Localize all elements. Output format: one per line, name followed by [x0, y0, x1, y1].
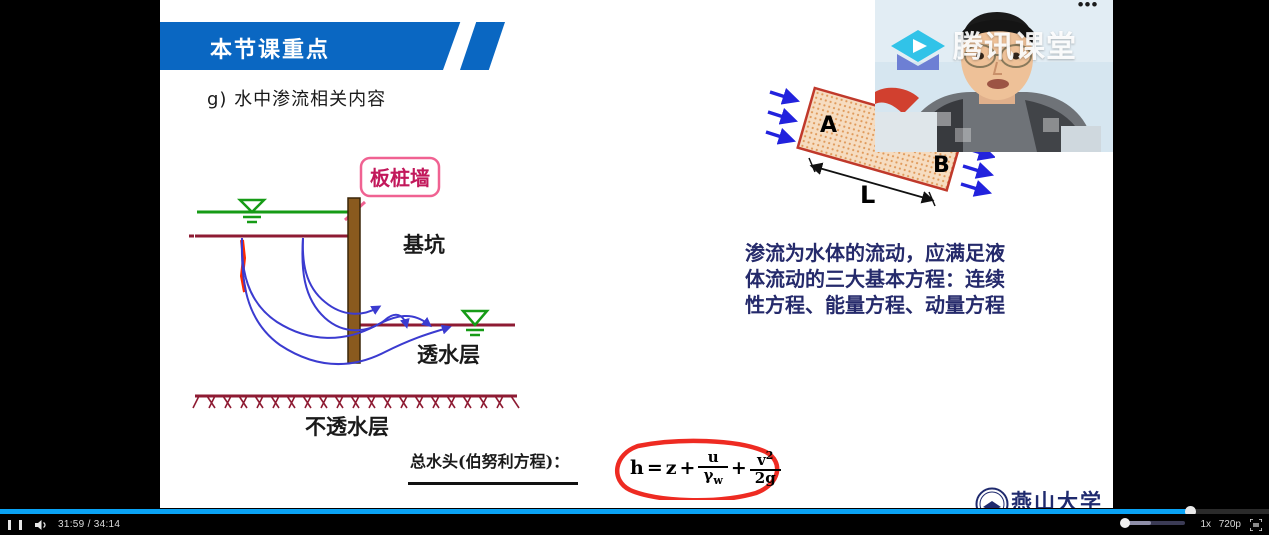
- callout-label: 板桩墙: [370, 166, 430, 190]
- fullscreen-icon: [1250, 519, 1262, 531]
- label-permeable-layer: 透水层: [417, 343, 480, 367]
- formula-label: 总水头(伯努利方程)：: [410, 448, 569, 472]
- bernoulli-formula: h = z + u γw + v2 2g: [608, 438, 788, 500]
- downstream-water-table-symbol: [463, 311, 487, 335]
- volume-button[interactable]: [32, 514, 50, 535]
- playback-speed-button[interactable]: 1x: [1200, 514, 1211, 535]
- label-length: L: [860, 181, 875, 209]
- page-title: 本节课重点: [210, 32, 330, 64]
- label-impermeable-layer: 不透水层: [305, 415, 389, 439]
- label-point-b: B: [933, 153, 950, 178]
- slide-title-banner: 本节课重点: [160, 22, 520, 70]
- label-point-a: A: [820, 113, 837, 138]
- formula-fraction-pressure-head: u γw: [698, 450, 727, 486]
- formula-term-z: z: [666, 457, 677, 479]
- formula-expression: h = z + u γw + v2 2g: [630, 450, 781, 487]
- instructor-webcam-overlay[interactable]: 腾讯课堂 •••: [875, 0, 1113, 152]
- tencent-classroom-watermark: 腾讯课堂: [953, 22, 1077, 66]
- player-controls-bar: 31:59 / 34:14 1x 720p: [0, 514, 1269, 535]
- formula-plus-2: +: [731, 457, 747, 479]
- outflow-arrows: [961, 148, 991, 192]
- formula-fraction-velocity-head: v2 2g: [750, 450, 781, 487]
- volume-slider[interactable]: [1123, 521, 1185, 525]
- seepage-diagram: 板桩墙: [185, 140, 545, 440]
- seepage-explanation-text: 渗流为水体的流动，应满足液体流动的三大基本方程：连续性方程、能量方程、动量方程: [745, 240, 1017, 318]
- pause-icon: [8, 520, 22, 530]
- formula-frac1-denominator: γw: [698, 466, 727, 487]
- formula-equals: =: [647, 457, 663, 479]
- formula-frac2-denominator: 2g: [750, 469, 781, 487]
- seepage-diagram-svg: 板桩墙: [185, 140, 545, 440]
- formula-frac1-numerator: u: [703, 450, 724, 466]
- video-player-window: 本节课重点 g) 水中渗流相关内容 板桩墙: [0, 0, 1269, 535]
- impermeable-layer-hatch: [193, 396, 519, 408]
- slide-subtitle: g) 水中渗流相关内容: [207, 85, 386, 111]
- volume-slider-knob[interactable]: [1120, 518, 1130, 528]
- time-display: 31:59 / 34:14: [58, 514, 120, 535]
- sheet-pile-wall: [348, 198, 360, 363]
- university-name: 燕山大学: [1011, 486, 1103, 508]
- volume-icon: [34, 519, 48, 531]
- formula-frac2-numerator: v2: [752, 450, 778, 469]
- university-emblem-icon: [975, 487, 1009, 508]
- quality-button[interactable]: 720p: [1219, 514, 1241, 535]
- formula-lhs: h: [630, 457, 644, 479]
- fullscreen-button[interactable]: [1249, 514, 1263, 535]
- label-excavation-pit: 基坑: [403, 233, 445, 257]
- inflow-arrows: [766, 92, 795, 140]
- university-logo: 燕山大学 YANSHAN UNIVERSITY: [975, 487, 1113, 508]
- tencent-classroom-logo-icon: [887, 26, 949, 80]
- webcam-menu-icon[interactable]: •••: [1075, 0, 1101, 14]
- formula-underline: [408, 482, 578, 485]
- formula-plus-1: +: [680, 457, 696, 479]
- pause-button[interactable]: [6, 514, 24, 535]
